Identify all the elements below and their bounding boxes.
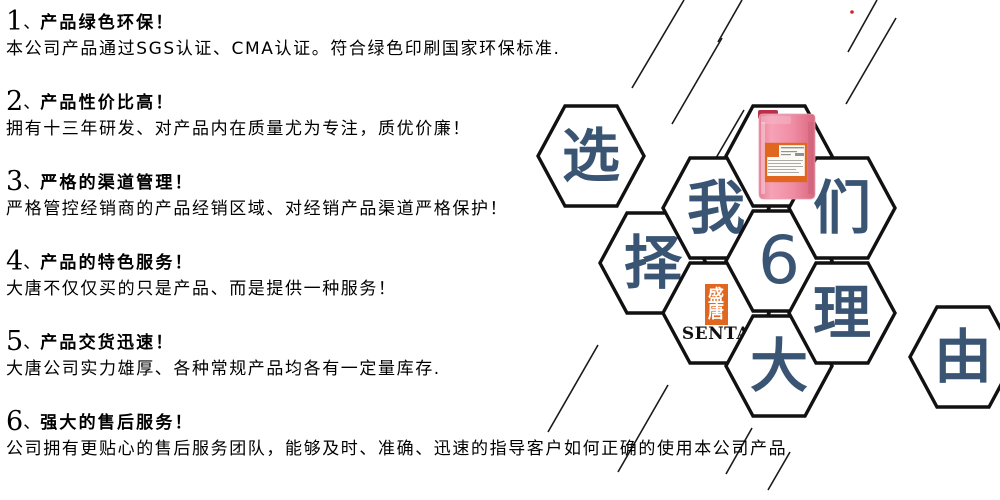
- hex-label: 由: [908, 305, 1000, 409]
- hex-label: 选: [536, 104, 646, 208]
- hex-cell-you: 由: [908, 305, 1000, 409]
- hex-cell-li: 理: [787, 261, 897, 365]
- promo-banner: 1、产品绿色环保！ 本公司产品通过SGS认证、CMA认证。符合绿色印刷国家环保标…: [0, 0, 1000, 500]
- hexagon-cluster: 选 择 我 盛 唐 SENTA: [0, 0, 1000, 500]
- hex-cell-xuan: 选: [536, 104, 646, 208]
- hex-label: 理: [787, 261, 897, 365]
- logo-seal-char-bottom: 唐: [708, 304, 724, 321]
- product-image-jerrycan: [753, 106, 821, 204]
